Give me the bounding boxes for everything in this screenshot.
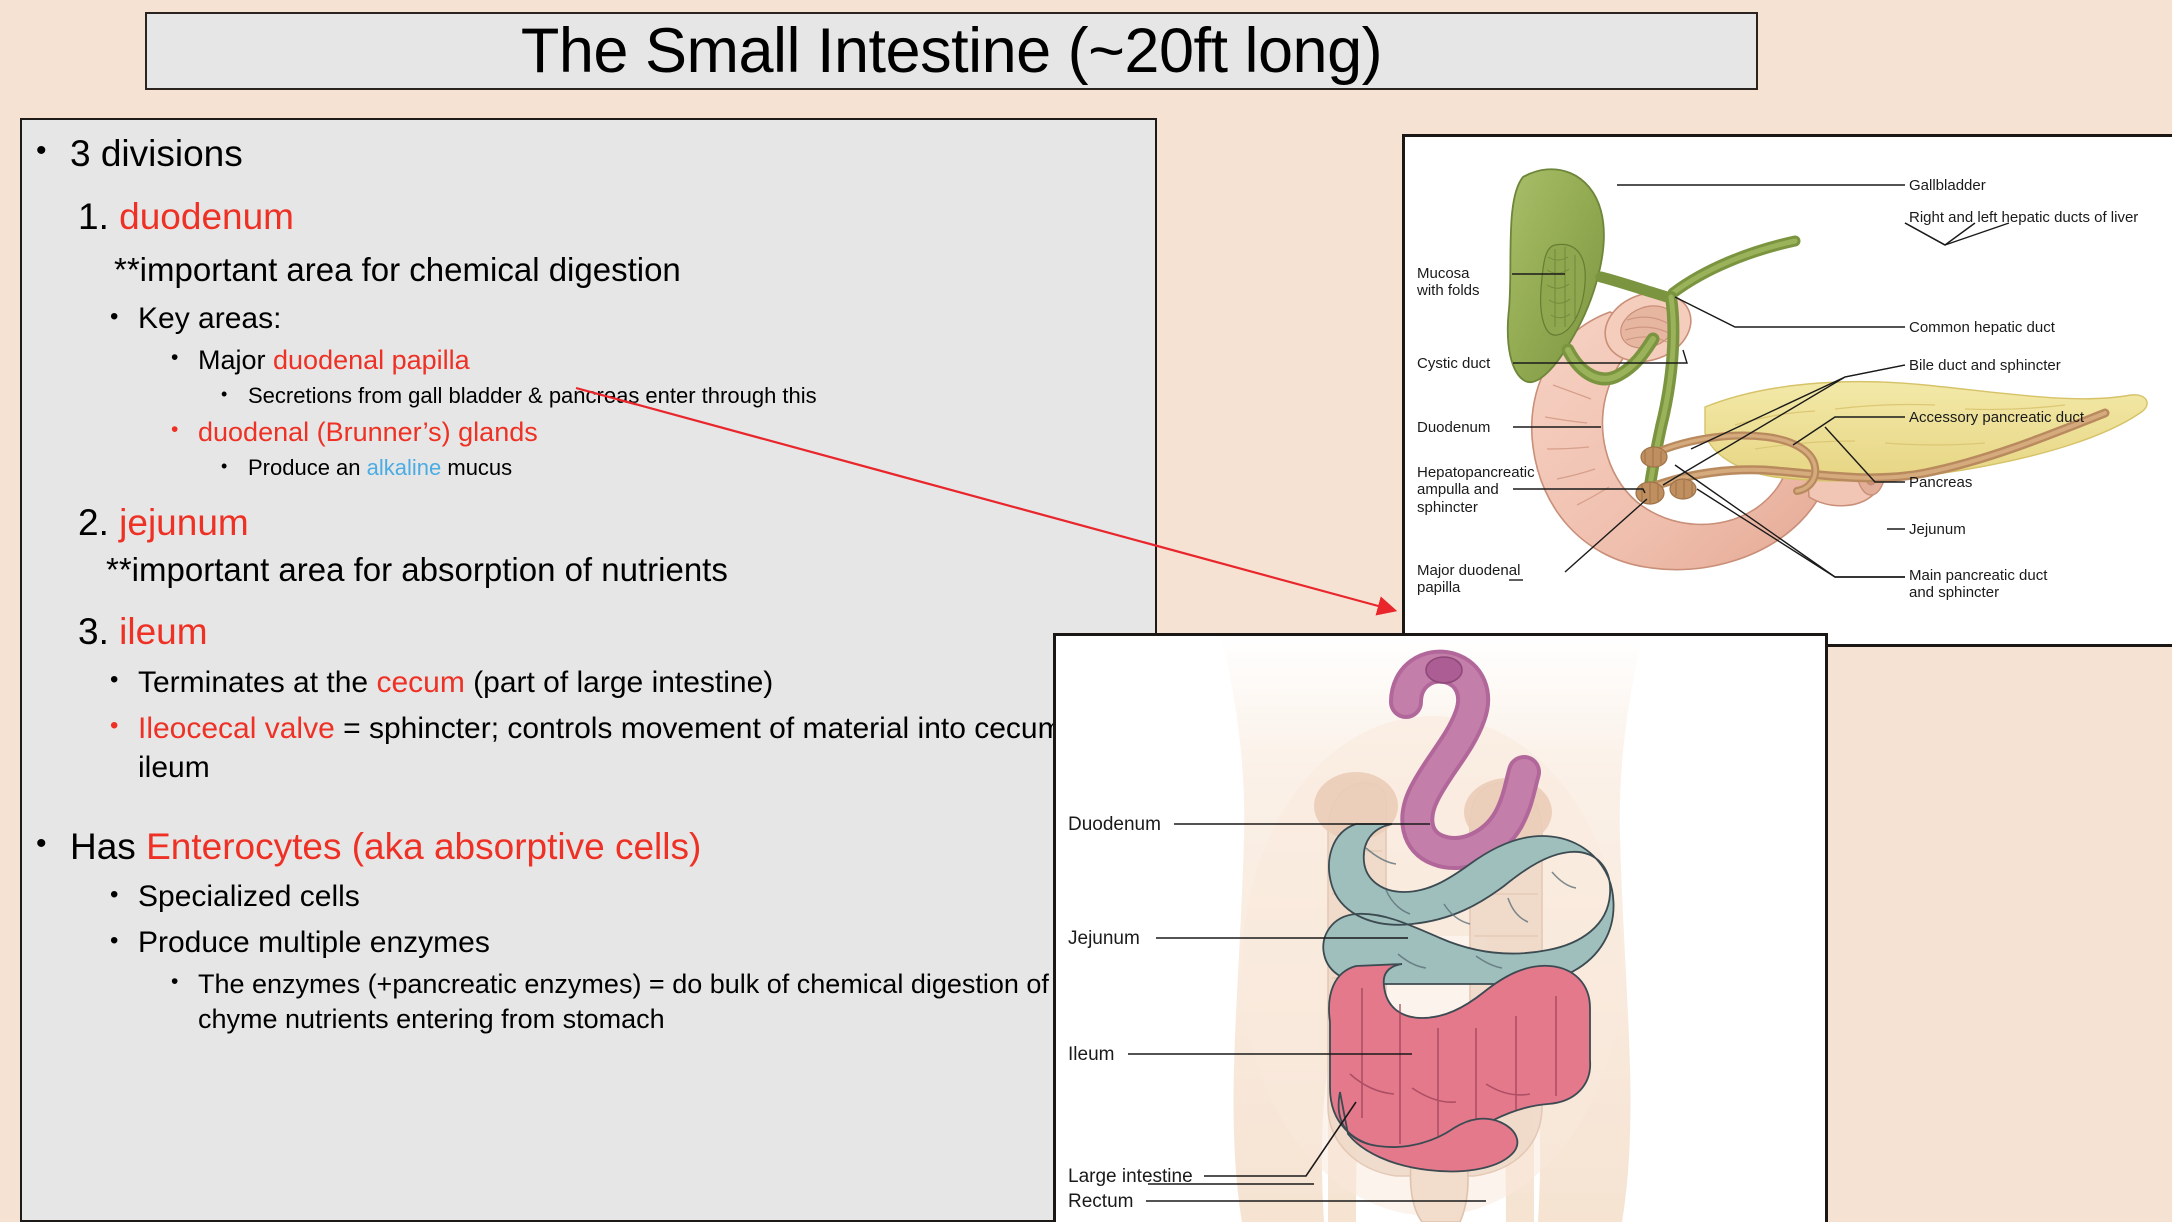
diagram-duodenum-pancreas: Mucosa with folds Cystic duct Duodenum H… [1402, 134, 2172, 647]
slide-content-box: 3 divisions 1. duodenum **important area… [20, 118, 1157, 1222]
enzymes-detail-item: The enzymes (+pancreatic enzymes) = do b… [28, 967, 1139, 1036]
brunners-glands-item: duodenal (Brunner’s) glands [28, 415, 1139, 450]
diagram-bottom-illustration [1056, 636, 1828, 1222]
label-gallbladder: Gallbladder [1909, 177, 1986, 194]
brunners-glands-text: duodenal (Brunner’s) glands [198, 417, 538, 447]
label-jejunum: Jejunum [1909, 521, 1966, 538]
terminates-post-text: (part of large intestine) [465, 666, 773, 699]
division-3-number: 3. [78, 611, 109, 652]
bullet-enterocytes: Has Enterocytes (aka absorptive cells) [28, 823, 1139, 870]
alkaline-text: alkaline [367, 455, 442, 480]
division-1-duodenum: 1. duodenum [28, 193, 1139, 241]
cecum-text: cecum [376, 666, 464, 699]
ileocecal-valve-text: Ileocecal valve [138, 712, 335, 745]
duodenal-papilla-text: duodenal papilla [273, 345, 470, 375]
alkaline-mucus-item: Produce an alkaline mucus [28, 454, 1139, 483]
division-2-label: jejunum [119, 502, 249, 543]
terminates-pre-text: Terminates at the [138, 666, 376, 699]
label-hepatic-ducts: Right and left hepatic ducts of liver [1909, 209, 2138, 226]
division-1-number: 1. [78, 196, 109, 237]
produce-enzymes-item: Produce multiple enzymes [28, 923, 1139, 962]
label-body-rectum: Rectum [1068, 1191, 1133, 1213]
jejunum-note: **important area for absorption of nutri… [28, 549, 1139, 592]
label-major-duodenal-papilla: Major duodenal papilla [1417, 562, 1520, 597]
alkaline-post-text: mucus [441, 455, 512, 480]
label-body-large-intestine: Large intestine [1068, 1166, 1193, 1188]
has-prefix-text: Has [70, 826, 146, 867]
page-title: The Small Intestine (~20ft long) [521, 20, 1382, 83]
enterocytes-text: Enterocytes (aka absorptive cells) [146, 826, 701, 867]
division-1-label: duodenum [119, 196, 294, 237]
label-bile-duct-sphincter: Bile duct and sphincter [1909, 357, 2061, 374]
ileocecal-valve-item: Ileocecal valve = sphincter; controls mo… [28, 709, 1139, 787]
label-mucosa-with-folds: Mucosa with folds [1417, 265, 1480, 300]
division-2-jejunum: 2. jejunum [28, 499, 1139, 547]
alkaline-pre-text: Produce an [248, 455, 367, 480]
division-2-number: 2. [78, 502, 109, 543]
key-areas-label: Key areas: [28, 299, 1139, 338]
bullet-3-divisions: 3 divisions [28, 130, 1139, 177]
secretions-note: Secretions from gall bladder & pancreas … [28, 382, 1139, 411]
slide-title-box: The Small Intestine (~20ft long) [145, 12, 1758, 90]
key-areas-text: Key areas: [138, 302, 281, 335]
diagram-small-intestine-body: Duodenum Jejunum Ileum Large intestine R… [1053, 633, 1828, 1222]
specialized-cells-item: Specialized cells [28, 877, 1139, 916]
label-accessory-pancreatic-duct: Accessory pancreatic duct [1909, 409, 2084, 426]
division-3-ileum: 3. ileum [28, 608, 1139, 656]
duodenum-note: **important area for chemical digestion [28, 249, 1139, 292]
section-spacer [28, 787, 1139, 821]
label-body-duodenum: Duodenum [1068, 814, 1161, 836]
label-body-jejunum: Jejunum [1068, 928, 1140, 950]
major-prefix-text: Major [198, 345, 273, 375]
label-pancreas: Pancreas [1909, 474, 1972, 491]
label-hepatopancreatic-ampulla: Hepatopancreatic ampulla and sphincter [1417, 464, 1535, 516]
label-main-pancreatic-duct: Main pancreatic duct and sphincter [1909, 567, 2047, 602]
major-duodenal-papilla-item: Major duodenal papilla [28, 343, 1139, 378]
terminates-cecum-item: Terminates at the cecum (part of large i… [28, 663, 1139, 702]
divisions-heading-label: 3 divisions [70, 133, 243, 174]
label-cystic-duct: Cystic duct [1417, 355, 1490, 372]
label-common-hepatic-duct: Common hepatic duct [1909, 319, 2055, 336]
label-body-ileum: Ileum [1068, 1044, 1114, 1066]
label-duodenum: Duodenum [1417, 419, 1490, 436]
division-3-label: ileum [119, 611, 207, 652]
